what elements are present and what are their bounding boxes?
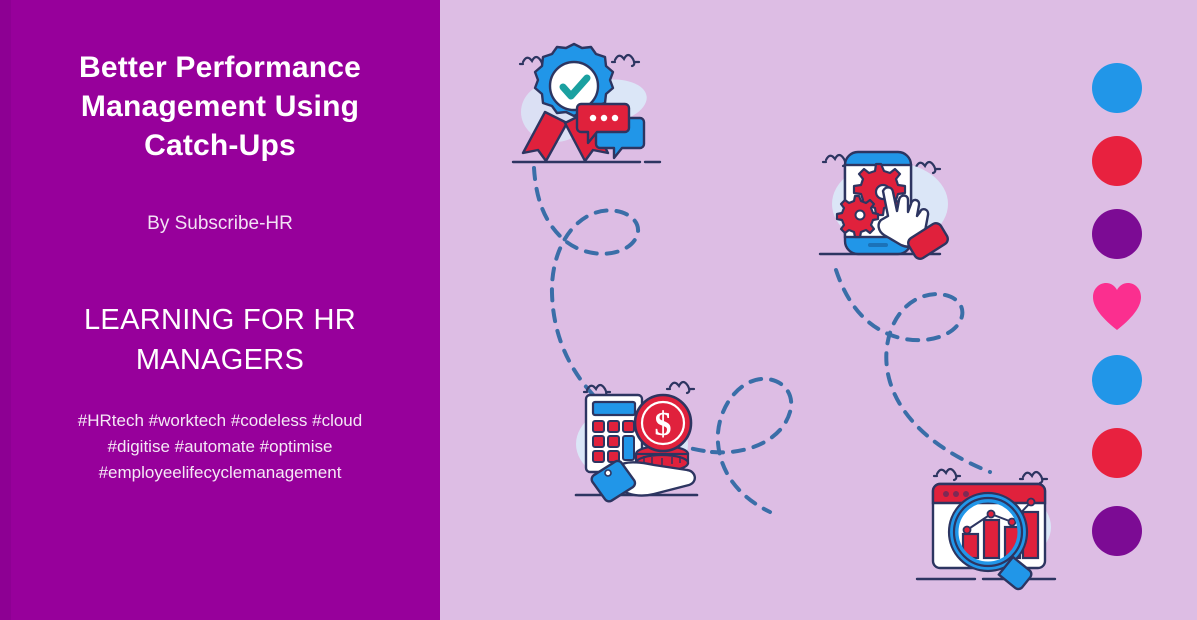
- circle-purple-2: [1092, 506, 1142, 556]
- award-badge-illustration: [505, 40, 670, 185]
- circle-red-1: [1092, 136, 1142, 186]
- title-line-2: Management Using: [20, 87, 420, 126]
- page-title: Better Performance Management Using Catc…: [20, 48, 420, 165]
- left-text-panel: Better Performance Management Using Catc…: [0, 0, 440, 620]
- circle-blue-1: [1092, 63, 1142, 113]
- left-edge-stripe: [0, 0, 11, 620]
- hashtag-line-1: #HRtech #worktech #codeless #cloud: [20, 408, 420, 434]
- subheading-line-1: LEARNING FOR HR: [20, 300, 420, 340]
- circle-blue-2: [1092, 355, 1142, 405]
- circle-purple-1: [1092, 209, 1142, 259]
- calculator-icon: [586, 395, 642, 472]
- hashtag-line-3: #employeelifecyclemanagement: [20, 460, 420, 486]
- svg-text:$: $: [655, 406, 672, 443]
- gear-small-icon: [837, 196, 878, 237]
- title-line-1: Better Performance: [20, 48, 420, 87]
- analytics-window-illustration: [905, 452, 1070, 592]
- circle-red-2: [1092, 428, 1142, 478]
- mobile-settings-illustration: [812, 132, 967, 277]
- heart-pink-icon: [1092, 282, 1142, 332]
- dollar-coin-icon: $: [635, 395, 691, 451]
- slide-canvas: Better Performance Management Using Catc…: [0, 0, 1197, 620]
- title-line-3: Catch-Ups: [20, 126, 420, 165]
- subheading: LEARNING FOR HR MANAGERS: [20, 300, 420, 380]
- cloud-squiggle-icon: [934, 469, 1047, 483]
- calculator-money-illustration: $: [562, 372, 722, 512]
- hashtag-line-2: #digitise #automate #optimise: [20, 434, 420, 460]
- byline: By Subscribe-HR: [20, 211, 420, 237]
- hashtag-block: #HRtech #worktech #codeless #cloud #digi…: [20, 408, 420, 486]
- subheading-line-2: MANAGERS: [20, 340, 420, 380]
